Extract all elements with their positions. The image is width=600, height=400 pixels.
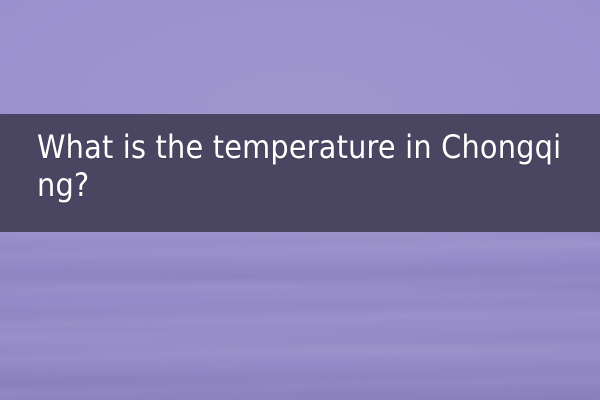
video-frame: What is the temperature in Chongqing? xyxy=(0,0,600,400)
caption-text: What is the temperature in Chongqing? xyxy=(37,128,573,204)
caption-overlay-band: What is the temperature in Chongqing? xyxy=(0,114,600,232)
